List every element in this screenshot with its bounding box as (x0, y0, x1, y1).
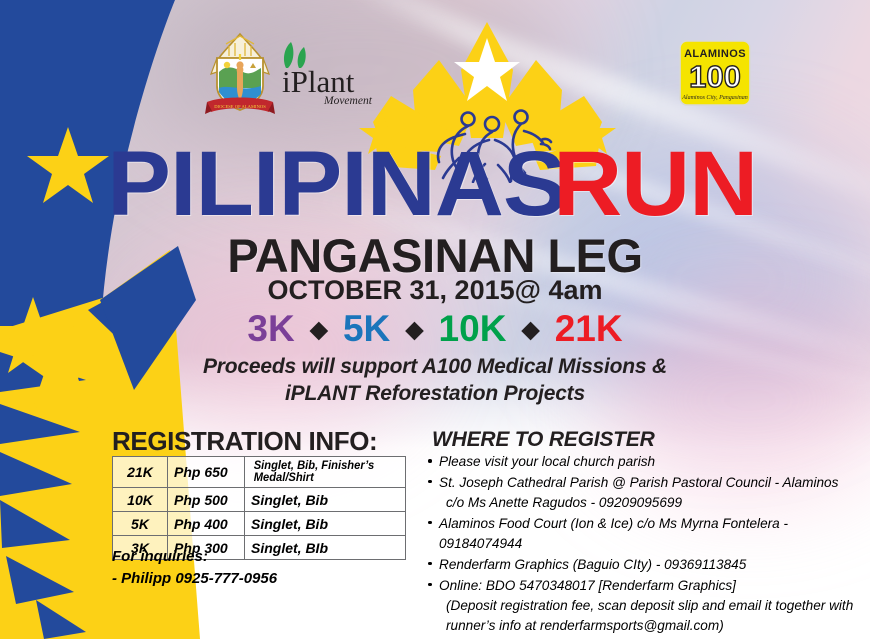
list-item-subtext: (Deposit registration fee, scan deposit … (439, 596, 866, 636)
list-item: Alaminos Food Court (Ion & Ice) c/o Ms M… (426, 514, 866, 554)
inquiries-label: For inquiries: (112, 546, 277, 568)
where-to-register-heading: WHERE TO REGISTER (432, 428, 655, 452)
proceeds-line-2: iPLANT Reforestation Projects (0, 381, 870, 408)
list-item-text: St. Joseph Cathedral Parish @ Parish Pas… (439, 475, 838, 490)
distance-separator-icon: ◆ (401, 316, 429, 342)
iplant-tagline: Movement (323, 95, 373, 106)
list-item: Renderfarm Graphics (Baguio CIty) - 0936… (426, 555, 866, 575)
iplant-leaf-icon: iPlant Movement (272, 38, 394, 106)
registration-info-heading: REGISTRATION INFO: (112, 426, 377, 457)
list-item: Please visit your local church parish (426, 452, 866, 472)
alaminos-logo-subtext: Alaminos City, Pangasinan (681, 95, 748, 101)
svg-text:DIOCESE OF ALAMINOS: DIOCESE OF ALAMINOS (214, 104, 266, 109)
row-inclusions: Singlet, Bib, Finisher’s Medal/Shirt (247, 457, 403, 488)
proceeds-line-1: Proceeds will support A100 Medical Missi… (0, 354, 870, 381)
list-item-subtext: c/o Ms Anette Ragudos - 09209095699 (439, 493, 866, 513)
list-item-text: Renderfarm Graphics (Baguio CIty) - 0936… (439, 557, 746, 572)
row-fee: Php 400 (168, 512, 245, 536)
list-item-text: Online: BDO 5470348017 [Renderfarm Graph… (439, 578, 736, 593)
bullet-icon (428, 480, 432, 484)
diocese-coat-of-arms-icon: DIOCESE OF ALAMINOS (203, 32, 277, 122)
distance-5k: 5K (343, 308, 390, 349)
poster-canvas: DIOCESE OF ALAMINOS iPlant Movement ALAM… (0, 0, 870, 639)
table-row: 10K Php 500 Singlet, Bib (113, 488, 406, 512)
distance-3k: 3K (247, 308, 294, 349)
inquiries-contact: - Philipp 0925-777-0956 (112, 568, 277, 590)
list-item: Online: BDO 5470348017 [Renderfarm Graph… (426, 576, 866, 636)
proceeds-statement: Proceeds will support A100 Medical Missi… (0, 354, 870, 408)
title-run: RUN (553, 142, 757, 227)
row-distance: 21K (113, 457, 168, 488)
list-item-text: Please visit your local church parish (439, 454, 655, 469)
row-fee: Php 500 (168, 488, 245, 512)
iplant-wordmark: iPlant (282, 64, 355, 99)
distance-separator-icon: ◆ (305, 316, 333, 342)
row-inclusions: Singlet, Bib (245, 512, 406, 536)
list-item: St. Joseph Cathedral Parish @ Parish Pas… (426, 473, 866, 513)
row-inclusions: Singlet, Bib (245, 488, 406, 512)
bullet-icon (428, 583, 432, 587)
row-distance: 10K (113, 488, 168, 512)
bullet-icon (428, 459, 432, 463)
title-pilipinas: PILIPINAS (108, 142, 566, 227)
table-row: 5K Php 400 Singlet, Bib (113, 512, 406, 536)
distance-21k: 21K (555, 308, 623, 349)
alaminos-100-logo: ALAMINOS 100 Alaminos City, Pangasinan (679, 40, 751, 106)
inquiries-block: For inquiries: - Philipp 0925-777-0956 (112, 546, 277, 590)
list-item-text: Alaminos Food Court (Ion & Ice) c/o Ms M… (439, 516, 788, 551)
event-date: OCTOBER 31, 2015@ 4am (0, 275, 870, 306)
row-fee: Php 650 (168, 457, 245, 488)
bullet-icon (428, 562, 432, 566)
distance-10k: 10K (439, 308, 507, 349)
table-row: 21K Php 650 Singlet, Bib, Finisher’s Med… (113, 457, 406, 488)
distance-separator-icon: ◆ (517, 316, 545, 342)
where-to-register-list: Please visit your local church parish St… (426, 452, 866, 637)
iplant-logo: iPlant Movement (272, 38, 394, 106)
registration-fee-table: 21K Php 650 Singlet, Bib, Finisher’s Med… (112, 456, 406, 560)
alaminos-logo-number: 100 (689, 59, 741, 94)
bullet-icon (428, 521, 432, 525)
race-distances: 3K ◆ 5K ◆ 10K ◆ 21K (0, 306, 870, 350)
event-title: PILIPINASRUN (0, 142, 870, 227)
row-distance: 5K (113, 512, 168, 536)
